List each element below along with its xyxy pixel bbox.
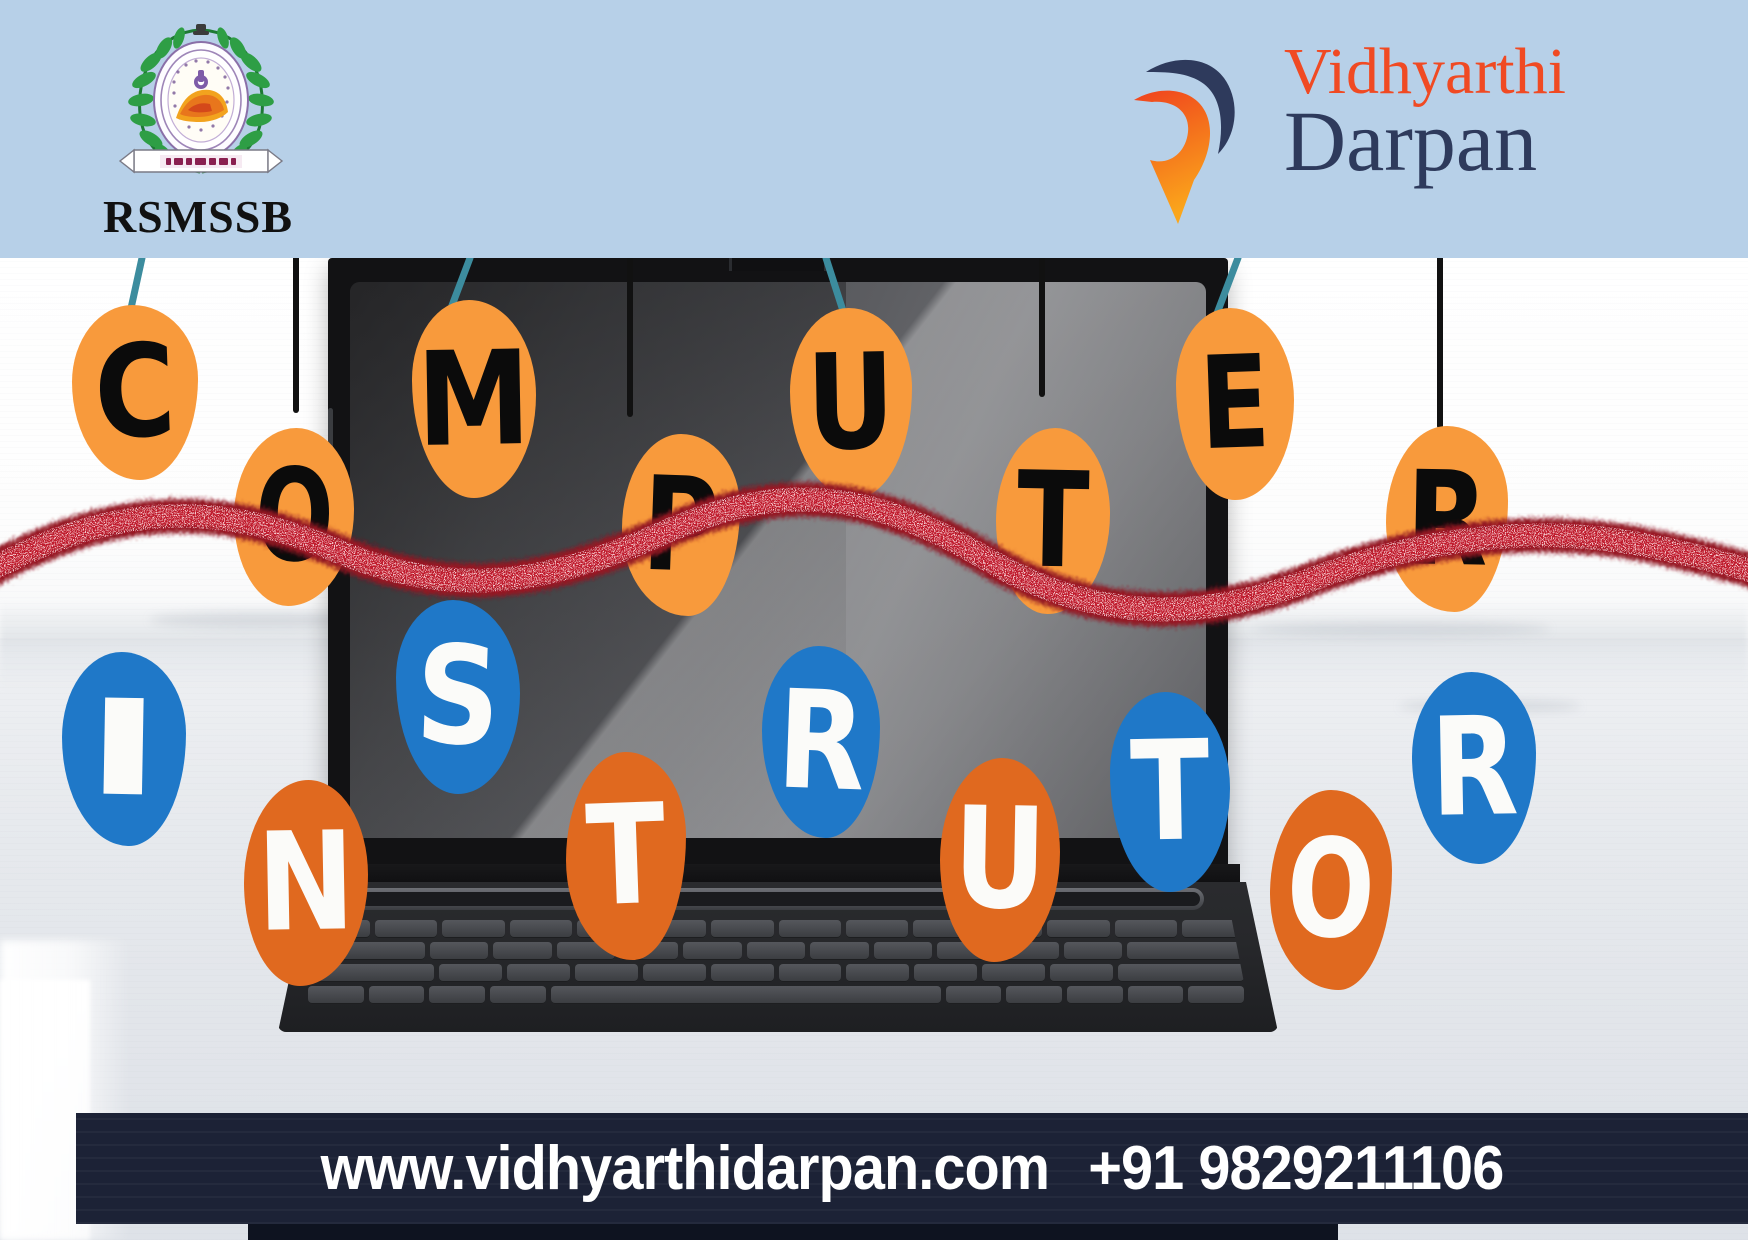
letter-tile-r: R (1386, 426, 1508, 612)
letter-tile-u: U (790, 308, 912, 498)
letter-tile-t2: T (566, 752, 686, 960)
keyboard-row (300, 964, 1252, 982)
letter-glyph: S (414, 628, 503, 767)
letter-glyph: U (952, 789, 1048, 931)
phone-number[interactable]: +91 9829211106 (1088, 1133, 1503, 1204)
poster-canvas: C O M P U T E R (0, 0, 1748, 1240)
desk-smudge (1250, 622, 1550, 636)
letter-tile-r3: R (1412, 672, 1536, 864)
letter-glyph: P (641, 459, 722, 592)
letter-glyph: R (775, 673, 868, 812)
letter-tile-p: P (622, 434, 740, 616)
contact-info: www.vidhyarthidarpan.com +91 9829211106 (135, 1113, 1690, 1224)
brand-line-darpan: Darpan (1284, 99, 1734, 183)
website-url[interactable]: www.vidhyarthidarpan.com (321, 1133, 1049, 1204)
letter-tile-s: S (396, 600, 520, 794)
keyboard-row (300, 942, 1252, 960)
brand-wordmark: Vidhyarthi Darpan (1284, 40, 1734, 184)
contact-footer-bar: www.vidhyarthidarpan.com +91 9829211106 (76, 1113, 1748, 1224)
letter-glyph: O (254, 452, 335, 581)
laptop-keyboard (300, 916, 1252, 1024)
letter-glyph: I (85, 682, 163, 815)
letter-glyph: M (416, 333, 532, 465)
letter-glyph: R (1405, 453, 1489, 584)
letter-glyph: C (92, 327, 177, 458)
letter-tile-u2: U (940, 758, 1060, 962)
letter-glyph: T (1016, 454, 1090, 587)
letter-glyph: N (256, 814, 356, 952)
letter-tile-n: N (244, 780, 368, 986)
letter-glyph: O (1285, 821, 1378, 960)
letter-glyph: R (1429, 699, 1519, 837)
letter-tile-o2: O (1270, 790, 1392, 990)
letter-glyph: E (1198, 339, 1272, 469)
letter-tile-r2: R (762, 646, 880, 838)
letter-tile-m: M (412, 300, 536, 498)
letter-glyph: U (806, 336, 896, 470)
vd-monogram-icon (1112, 48, 1272, 228)
vidhyarthi-darpan-logo[interactable]: Vidhyarthi Darpan (1094, 40, 1734, 230)
laptop-front-lip (344, 888, 1204, 910)
footer-base-strip (248, 1224, 1338, 1240)
rsmssb-logo-block: RSMSSB (78, 18, 318, 250)
keyboard-row (300, 920, 1252, 938)
letter-glyph: T (584, 786, 668, 927)
rajasthan-government-emblem-icon (116, 22, 286, 182)
header-bar: RSMSSB Vidhyarthi Darpan (0, 0, 1748, 258)
letter-glyph: T (1129, 722, 1210, 861)
keyboard-row (300, 986, 1252, 1004)
rsmssb-abbreviation: RSMSSB (78, 190, 318, 243)
